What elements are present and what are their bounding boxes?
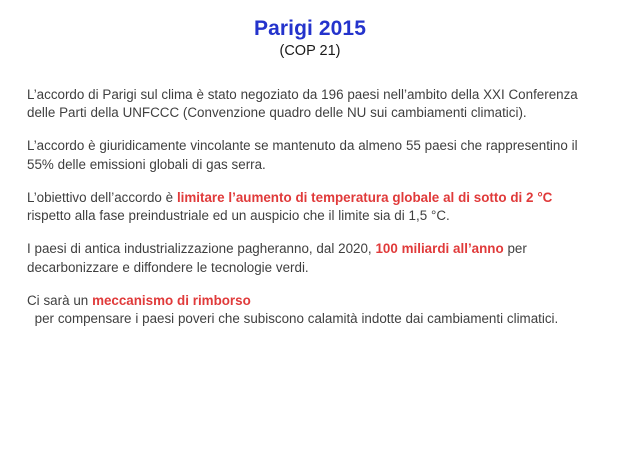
paragraph-finanziamento-lead: I paesi di antica industrializzazione pa… bbox=[27, 241, 375, 256]
slide-canvas: Parigi 2015 (COP 21) L’accordo di Parigi… bbox=[0, 0, 620, 464]
title-block: Parigi 2015 (COP 21) bbox=[0, 0, 620, 59]
paragraph-obiettivo-tail: rispetto alla fase preindustriale ed un … bbox=[27, 208, 450, 223]
paragraph-obiettivo-lead: L’obiettivo dell’accordo è bbox=[27, 190, 177, 205]
paragraph-rimborso-highlight: meccanismo di rimborso bbox=[92, 293, 251, 308]
slide-body: L’accordo di Parigi sul clima è stato ne… bbox=[27, 86, 587, 328]
paragraph-accordo-negoziato: L’accordo di Parigi sul clima è stato ne… bbox=[27, 86, 587, 122]
paragraph-obiettivo-highlight: limitare l’aumento di temperatura global… bbox=[177, 190, 552, 205]
paragraph-rimborso-lead: Ci sarà un bbox=[27, 293, 92, 308]
paragraph-rimborso-tail: per compensare i paesi poveri che subisc… bbox=[27, 311, 558, 326]
page-subtitle: (COP 21) bbox=[0, 43, 620, 60]
paragraph-finanziamento: I paesi di antica industrializzazione pa… bbox=[27, 240, 587, 276]
paragraph-obiettivo: L’obiettivo dell’accordo è limitare l’au… bbox=[27, 189, 587, 225]
paragraph-finanziamento-highlight: 100 miliardi all’anno bbox=[375, 241, 503, 256]
page-title: Parigi 2015 bbox=[0, 17, 620, 41]
paragraph-rimborso: Ci sarà un meccanismo di rimborso per co… bbox=[27, 292, 587, 328]
paragraph-vincolante: L’accordo è giuridicamente vincolante se… bbox=[27, 137, 587, 173]
